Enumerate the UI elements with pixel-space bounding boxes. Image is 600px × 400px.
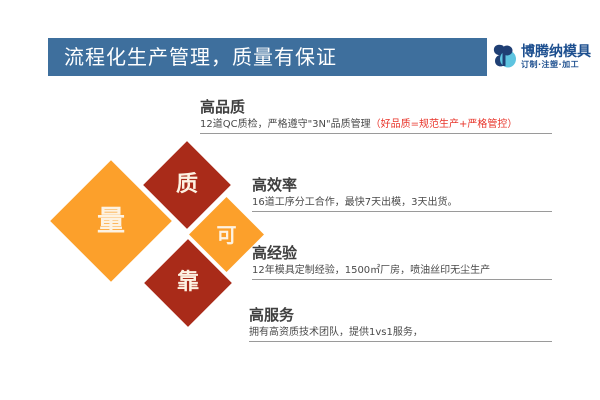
- butterfly-logo-icon: [492, 42, 518, 72]
- feature-service-rule: [249, 341, 552, 342]
- feature-efficiency-rule: [252, 211, 552, 212]
- diamond-zhi-label: 质: [176, 174, 198, 196]
- feature-quality-accent: （好品质=规范生产+严格管控）: [371, 119, 518, 130]
- logo-company-name: 博腾纳模具: [521, 45, 591, 60]
- feature-quality-rule: [200, 133, 552, 134]
- diamond-liang-label: 量: [97, 207, 125, 235]
- feature-efficiency: 高效率 16道工序分工合作，最快7天出模，3天出货。: [252, 177, 552, 212]
- logo-text-block: 博腾纳模具 订制·注塑·加工: [521, 45, 591, 69]
- slide-canvas: 流程化生产管理，质量有保证 博腾纳模具 订制·注塑·加工 量 质 可 靠 高品质: [0, 0, 600, 400]
- feature-efficiency-title: 高效率: [252, 177, 552, 194]
- feature-experience-rule: [252, 279, 552, 280]
- feature-experience: 高经验 12年模具定制经验，1500㎡厂房，喷油丝印无尘生产: [252, 245, 552, 280]
- header-bar: 流程化生产管理，质量有保证: [48, 38, 487, 76]
- feature-experience-desc: 12年模具定制经验，1500㎡厂房，喷油丝印无尘生产: [252, 265, 490, 276]
- feature-experience-title: 高经验: [252, 245, 552, 262]
- feature-quality-desc-row: 12道QC质检，严格遵守"3N"品质管理（好品质=规范生产+严格管控）: [200, 119, 552, 131]
- feature-efficiency-desc: 16道工序分工合作，最快7天出模，3天出货。: [252, 197, 457, 208]
- diamond-ke-label: 可: [217, 225, 237, 245]
- feature-quality: 高品质 12道QC质检，严格遵守"3N"品质管理（好品质=规范生产+严格管控）: [200, 99, 552, 134]
- feature-service-desc: 拥有高资质技术团队，提供1vs1服务，: [249, 327, 423, 338]
- feature-quality-desc: 12道QC质检，严格遵守"3N"品质管理: [200, 119, 371, 130]
- feature-quality-title: 高品质: [200, 99, 552, 116]
- feature-efficiency-desc-row: 16道工序分工合作，最快7天出模，3天出货。: [252, 197, 552, 209]
- diamond-kao-label: 靠: [177, 272, 199, 294]
- feature-experience-desc-row: 12年模具定制经验，1500㎡厂房，喷油丝印无尘生产: [252, 265, 552, 277]
- feature-service-desc-row: 拥有高资质技术团队，提供1vs1服务，: [249, 327, 552, 339]
- feature-service: 高服务 拥有高资质技术团队，提供1vs1服务，: [249, 307, 552, 342]
- company-logo: 博腾纳模具 订制·注塑·加工: [492, 38, 596, 76]
- page-title: 流程化生产管理，质量有保证: [64, 47, 337, 67]
- feature-service-title: 高服务: [249, 307, 552, 324]
- logo-tagline: 订制·注塑·加工: [521, 61, 591, 69]
